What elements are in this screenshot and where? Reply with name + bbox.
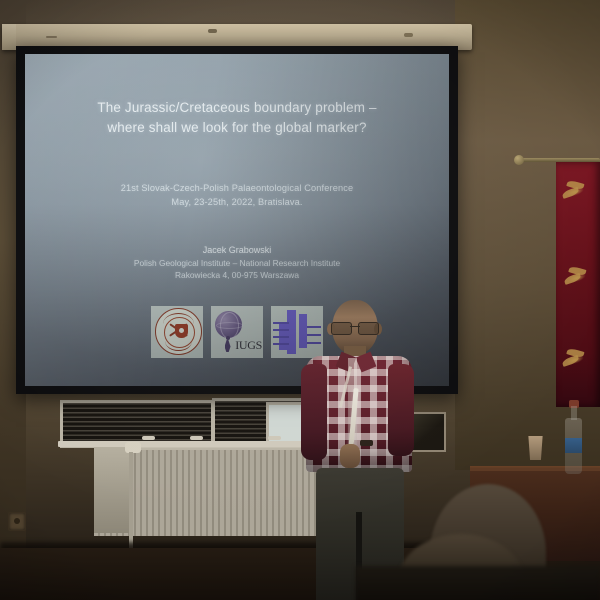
slide-title: The Jurassic/Cretaceous boundary problem… (25, 98, 449, 138)
window-handle[interactable] (268, 436, 281, 440)
banner-leaf-motif (559, 177, 591, 208)
banner-leaf-motif (559, 345, 591, 376)
conference-date-location: May, 23-25th, 2022, Bratislava. (25, 195, 449, 209)
banner-rod-finial (514, 155, 524, 165)
heraldic-banner (556, 162, 600, 407)
power-outlet (8, 512, 26, 531)
slide-conference-info: 21st Slovak-Czech-Polish Palaeontologica… (25, 181, 449, 209)
radiator-end-panel (94, 447, 130, 533)
eagle-shield-icon (175, 324, 188, 338)
strat-line (273, 329, 289, 331)
conference-room-photo: The Jurassic/Cretaceous boundary problem… (0, 0, 600, 600)
banner-leaf-motif (561, 263, 593, 294)
iugs-label: IUGS (235, 338, 262, 353)
author-name: Jacek Grabowski (25, 244, 449, 257)
slide-author-block: Jacek Grabowski Polish Geological Instit… (25, 244, 449, 282)
strat-line (273, 322, 289, 324)
polish-geological-institute-seal-icon (151, 306, 203, 358)
strat-line (273, 343, 289, 345)
presenter-left-arm (301, 364, 327, 460)
atlas-figure-icon (223, 336, 232, 353)
slide-title-line2: where shall we look for the global marke… (41, 118, 433, 138)
roller-bolt (208, 29, 217, 33)
roller-bolt (404, 33, 413, 37)
wristwatch (360, 440, 373, 446)
globe-icon (215, 311, 242, 338)
radiator-valve[interactable] (125, 442, 141, 453)
window-blinds (63, 403, 211, 445)
glasses-icon (331, 322, 379, 333)
presenter-right-arm (388, 364, 414, 456)
glasses-lens (358, 322, 379, 335)
seal-outer-ring (155, 308, 202, 355)
iugs-logo-icon: IUGS (211, 306, 263, 358)
author-affiliation: Polish Geological Institute – National R… (25, 257, 449, 270)
glasses-lens (331, 322, 352, 335)
presenter-hand (340, 444, 360, 468)
roller-screw (46, 36, 57, 38)
audience-shoulders (356, 566, 600, 600)
bottle-label (565, 438, 582, 453)
window-handle[interactable] (190, 436, 203, 440)
window-handle[interactable] (142, 436, 155, 440)
strat-line (273, 336, 289, 338)
author-address: Rakowiecka 4, 00-975 Warszawa (25, 269, 449, 282)
radiator-pipe (129, 452, 133, 552)
slide-title-line1: The Jurassic/Cretaceous boundary problem… (41, 98, 433, 118)
roller-end-cap (2, 24, 16, 50)
conference-name: 21st Slovak-Czech-Polish Palaeontologica… (25, 181, 449, 195)
